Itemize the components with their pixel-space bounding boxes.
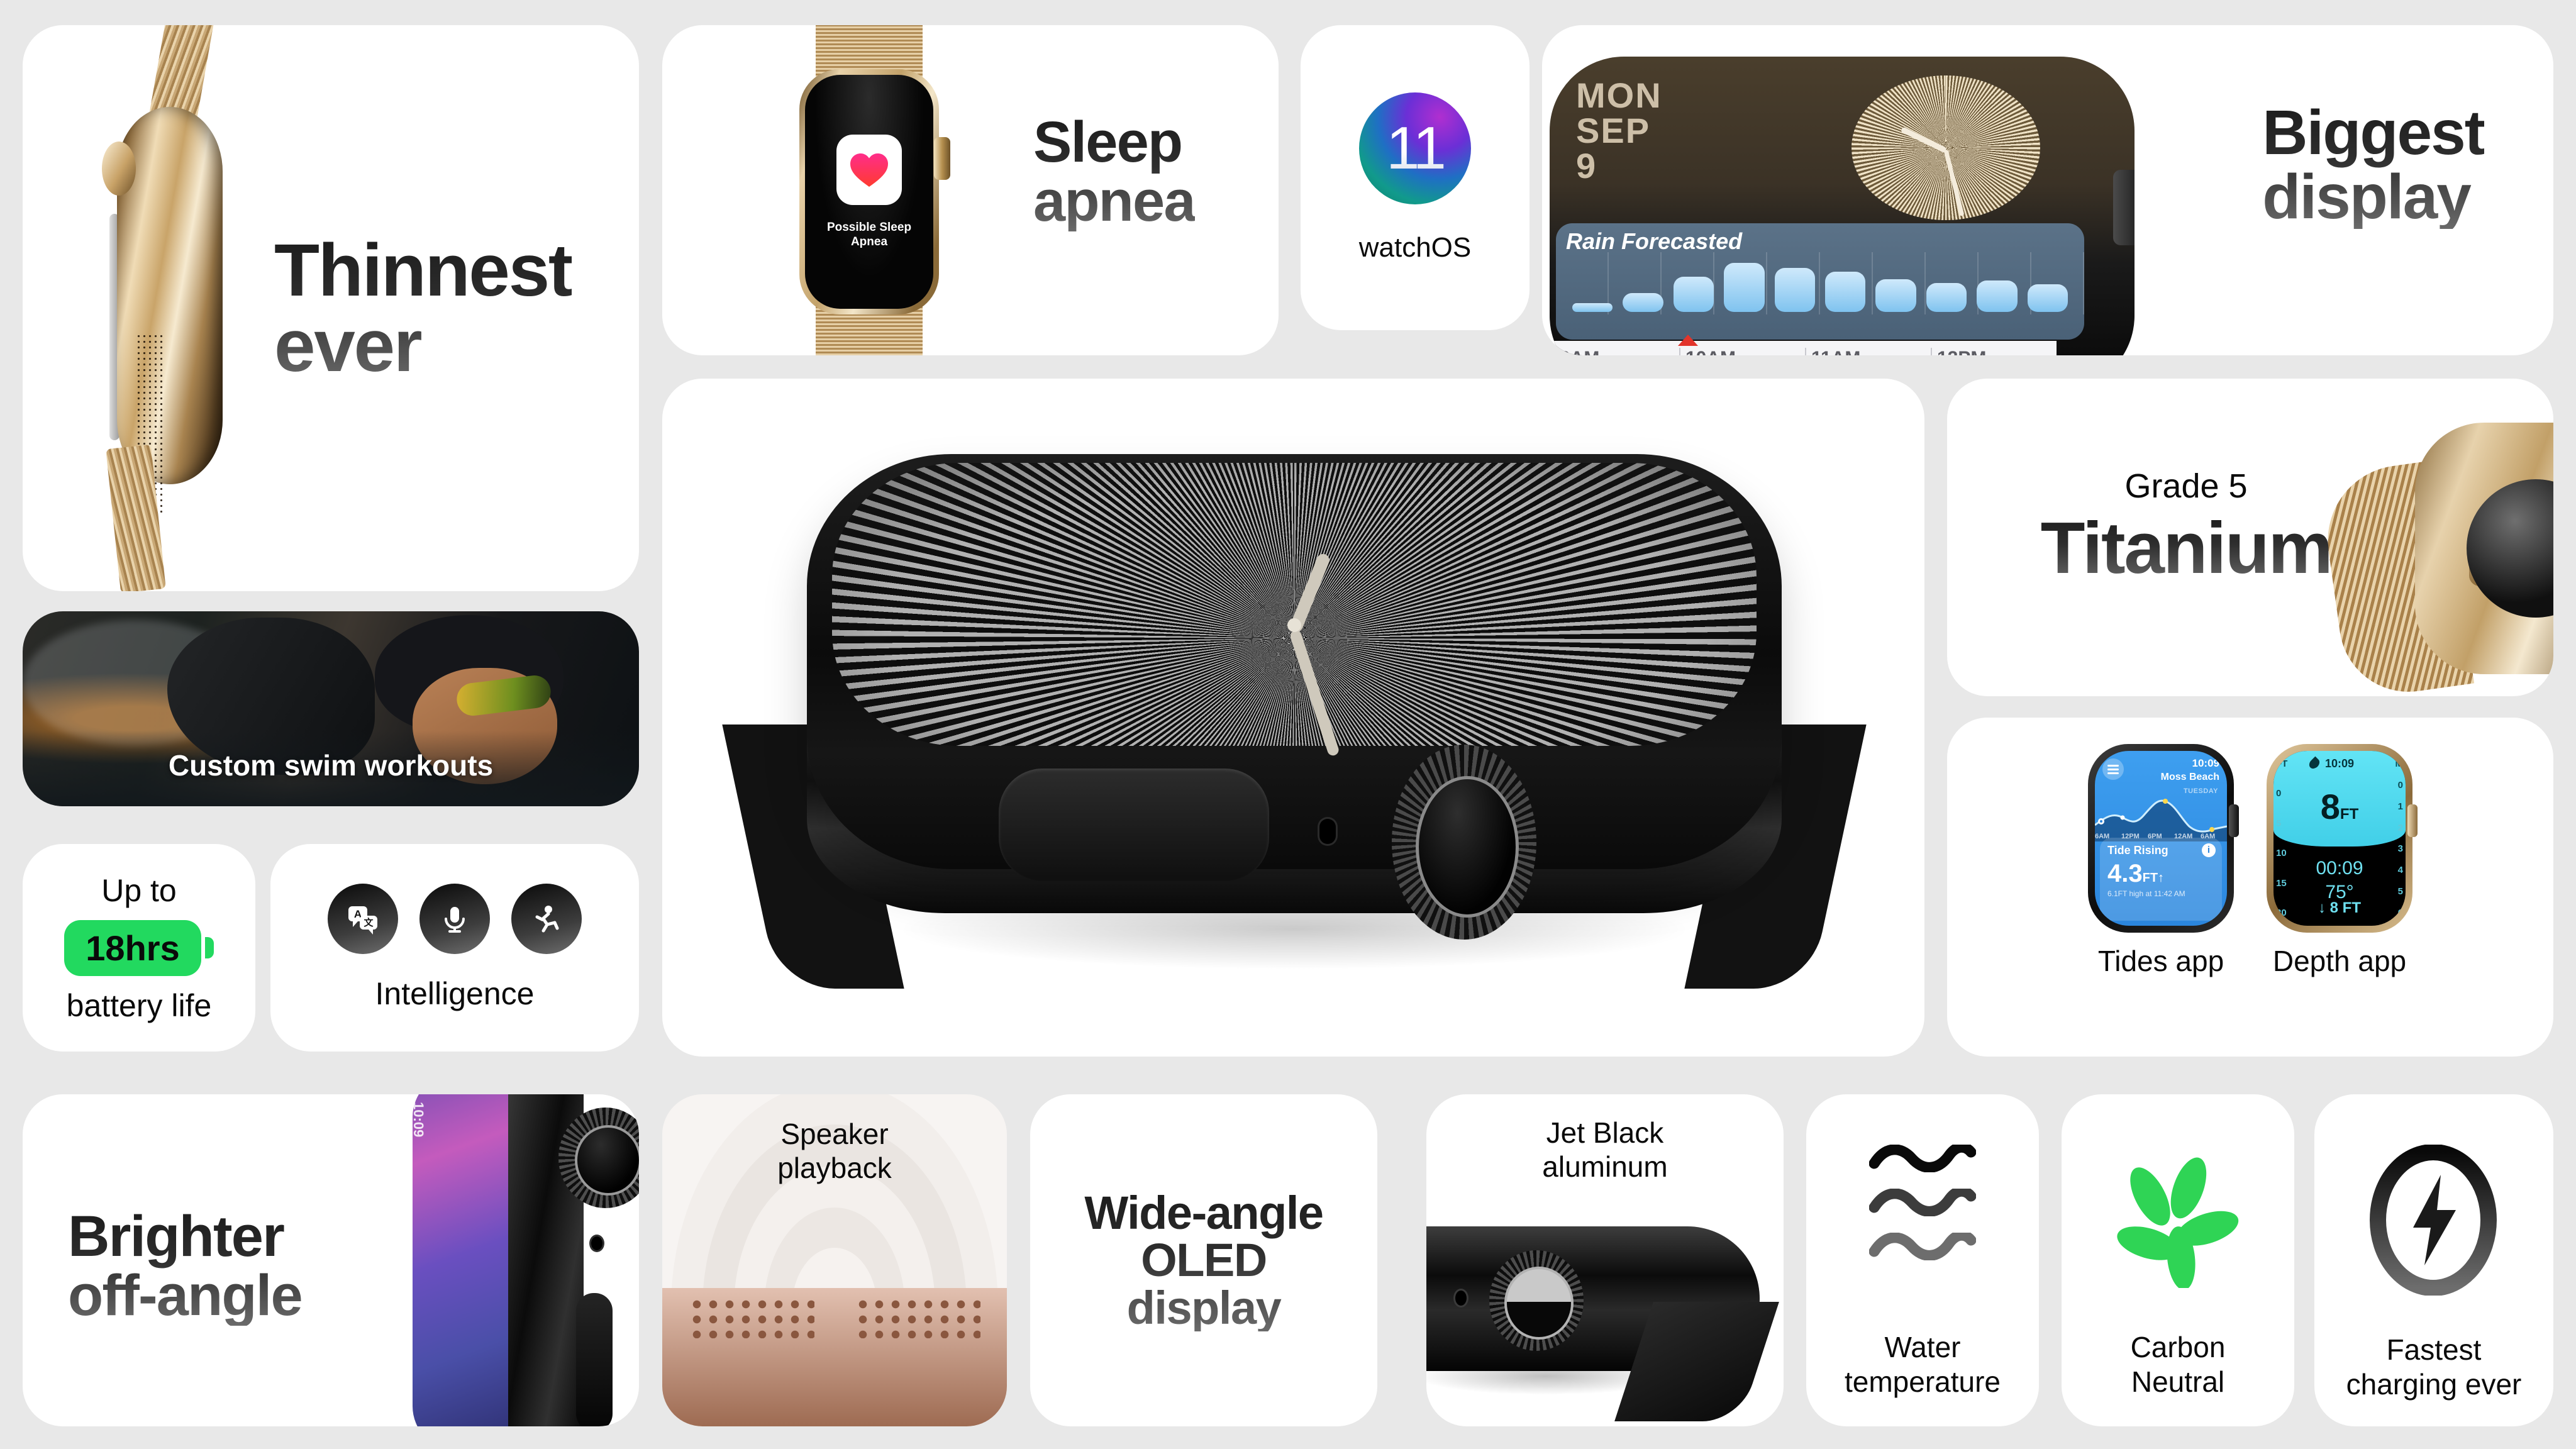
tide-curve-chart: 6AM12PM6PM12AM6AM xyxy=(2095,787,2227,841)
rain-minute-label: 40M xyxy=(1927,337,1963,340)
tides-app-column[interactable]: 10:09 Moss Beach TUESDAY xyxy=(2088,744,2234,978)
feature-grid: Thinnest ever Possible Sleep Apnea xyxy=(0,0,2576,1449)
microphone-port-icon xyxy=(1319,819,1336,844)
card-sleep-apnea[interactable]: Possible Sleep Apnea Sleep apnea xyxy=(662,25,1279,355)
digital-crown-icon xyxy=(2229,804,2239,837)
watchos-label: watchOS xyxy=(1359,232,1472,264)
rain-bar xyxy=(1775,268,1815,312)
sleep-apnea-screen-text: Possible Sleep Apnea xyxy=(827,220,911,249)
depth-scale-tick: 4 xyxy=(2398,865,2403,875)
rain-bar xyxy=(2028,284,2068,312)
titanium-superline: Grade 5 xyxy=(2016,467,2356,506)
brighter-headline: Brighter off-angle xyxy=(68,1207,302,1326)
apple-watch-hero-image xyxy=(750,454,1838,995)
tide-value: 4.3 xyxy=(2107,860,2143,887)
watchos-version: 11 xyxy=(1386,114,1444,183)
rain-forecast-complication: Rain Forecasted NOW20M40M xyxy=(1556,223,2084,340)
depth-scale-tick: 2 xyxy=(2398,823,2403,833)
hour-timeline: 9AM10AM11AM12PM xyxy=(1553,341,2057,355)
swim-caption: Custom swim workouts xyxy=(23,748,639,782)
card-watchos[interactable]: 11 watchOS xyxy=(1301,25,1529,330)
depth-scale-tick: 10 xyxy=(2276,848,2287,858)
tide-arrow-icon: ↑ xyxy=(2158,871,2164,885)
card-fastest-charging[interactable]: Fastest charging ever xyxy=(2314,1094,2553,1426)
card-thinnest-ever[interactable]: Thinnest ever xyxy=(23,25,639,591)
depth-watch-mockup: 10:09 8FT 00:09 75° ↓ 8 FT FT05101520 M0… xyxy=(2267,744,2412,933)
microphone-port-icon xyxy=(1455,1291,1467,1306)
hour-label: 12PM xyxy=(1931,348,2057,355)
digital-crown-icon xyxy=(1392,745,1536,940)
tides-place: Moss Beach xyxy=(2161,772,2219,783)
rain-bar xyxy=(1825,272,1865,312)
card-carbon-neutral[interactable]: Carbon Neutral xyxy=(2062,1094,2294,1426)
microphone-icon xyxy=(419,884,490,954)
card-hero-watch[interactable] xyxy=(662,379,1924,1057)
rain-bar xyxy=(1724,263,1764,312)
card-jet-black-aluminum[interactable]: Jet Black aluminum xyxy=(1426,1094,1784,1426)
tides-app-label: Tides app xyxy=(2098,944,2224,978)
tides-time: 10:09 xyxy=(2192,757,2219,770)
info-icon[interactable]: i xyxy=(2202,843,2216,857)
charging-bolt-icon xyxy=(2314,1145,2553,1296)
depth-scale-tick: 20 xyxy=(2276,908,2287,918)
digital-crown-icon xyxy=(2407,804,2418,837)
biggest-display-headline: Biggest display xyxy=(2262,101,2484,229)
tide-unit: FT xyxy=(2143,871,2158,885)
depth-scale-right: M0123456 xyxy=(2375,758,2403,918)
hour-label: 9AM xyxy=(1553,348,1679,355)
milanese-watch-image: Possible Sleep Apnea xyxy=(750,25,989,355)
card-speaker-playback[interactable]: Speaker playback xyxy=(662,1094,1007,1426)
battery-indicator-icon: 18hrs xyxy=(64,920,213,976)
fall-detection-icon xyxy=(511,884,582,954)
card-brighter-off-angle[interactable]: 10:09 Brighter off-angle xyxy=(23,1094,639,1426)
depth-app-column[interactable]: 10:09 8FT 00:09 75° ↓ 8 FT FT05101520 M0… xyxy=(2267,744,2412,978)
side-button-icon xyxy=(576,1293,613,1426)
speaker-title: Speaker playback xyxy=(662,1117,1007,1185)
card-water-temperature[interactable]: Water temperature xyxy=(1806,1094,2039,1426)
card-biggest-display[interactable]: MON SEP 9 Rain Forecasted NOW20M40M 9AM1… xyxy=(1542,25,2553,355)
oled-headline: Wide-angle OLED display xyxy=(1084,1189,1323,1331)
water-temperature-label: Water temperature xyxy=(1806,1330,2039,1399)
depth-scale-title: M xyxy=(2396,758,2404,769)
depth-scale-tick: 5 xyxy=(2398,886,2403,897)
thinnest-headline: Thinnest ever xyxy=(274,233,572,384)
speaker-grille-image xyxy=(662,1288,1007,1426)
watch-face-date: MON SEP 9 xyxy=(1576,78,1662,184)
hour-label: 10AM xyxy=(1679,348,1805,355)
rain-bar xyxy=(1875,279,1916,312)
watch-face-dial xyxy=(1851,75,2040,220)
microphone-port-icon xyxy=(591,1236,602,1250)
svg-text:文: 文 xyxy=(364,917,374,928)
card-battery-life[interactable]: Up to 18hrs battery life xyxy=(23,844,255,1052)
rain-bars xyxy=(1556,249,2084,312)
rain-bar xyxy=(1926,283,1967,312)
tide-status-panel: Tide Rising i 4.3FT↑ 6.1FT high at 11:42… xyxy=(2100,838,2222,921)
digital-crown-icon xyxy=(1489,1250,1584,1351)
depth-scale-tick: 5 xyxy=(2276,818,2281,829)
tides-watch-mockup: 10:09 Moss Beach TUESDAY xyxy=(2088,744,2234,933)
carbon-neutral-leaf-icon xyxy=(2062,1150,2294,1288)
water-waves-icon xyxy=(1806,1145,2039,1260)
depth-scale-tick: 0 xyxy=(2398,780,2403,791)
translate-icon: A 文 xyxy=(328,884,398,954)
depth-scale-tick: 3 xyxy=(2398,843,2403,854)
gold-watch-side-image xyxy=(60,25,268,585)
now-marker-icon xyxy=(1678,335,1698,346)
depth-value: 8 xyxy=(2321,787,2340,826)
card-tides-depth-apps[interactable]: 10:09 Moss Beach TUESDAY xyxy=(1947,718,2553,1057)
side-button-icon xyxy=(999,769,1269,882)
rain-bar xyxy=(1674,277,1714,312)
rain-minute-label: 20M xyxy=(1745,337,1781,340)
tide-note: 6.1FT high at 11:42 AM xyxy=(2107,889,2214,898)
depth-scale-title: FT xyxy=(2276,758,2287,769)
battery-prefix: Up to xyxy=(101,872,177,909)
sleep-apnea-headline: Sleep apnea xyxy=(1033,113,1195,231)
rain-bar xyxy=(1623,293,1663,312)
card-intelligence[interactable]: A 文 xyxy=(270,844,639,1052)
depth-scale-left: FT05101520 xyxy=(2276,758,2304,918)
tide-status: Tide Rising xyxy=(2107,844,2214,857)
watchos-orb-icon: 11 xyxy=(1359,92,1471,204)
depth-unit: FT xyxy=(2340,806,2358,823)
hour-label: 11AM xyxy=(1805,348,1931,355)
intelligence-label: Intelligence xyxy=(375,975,535,1012)
digital-crown-icon xyxy=(2113,170,2135,245)
rain-minute-label: NOW xyxy=(1562,337,1608,340)
depth-scale-tick: 6 xyxy=(2398,908,2403,918)
battery-value: 18hrs xyxy=(86,928,179,968)
biggest-display-watch-image: MON SEP 9 Rain Forecasted NOW20M40M 9AM1… xyxy=(1550,57,2135,355)
depth-scale-tick: 0 xyxy=(2276,788,2281,799)
card-swim-workouts[interactable]: Custom swim workouts xyxy=(23,611,639,806)
battery-suffix: battery life xyxy=(67,987,212,1024)
card-titanium[interactable]: Grade 5 Titanium xyxy=(1947,379,2553,696)
depth-scale-tick: 15 xyxy=(2276,878,2287,889)
rain-bar xyxy=(1977,280,2017,312)
titanium-headline: Titanium xyxy=(1979,511,2394,585)
depth-scale-tick: 1 xyxy=(2398,801,2403,812)
depth-app-label: Depth app xyxy=(2273,944,2406,978)
rain-bar xyxy=(1572,303,1613,312)
heart-icon xyxy=(836,135,902,205)
list-icon xyxy=(2102,758,2124,780)
off-angle-watch-image: 10:09 xyxy=(402,1094,639,1426)
jet-black-title: Jet Black aluminum xyxy=(1426,1116,1784,1184)
fastest-charging-label: Fastest charging ever xyxy=(2314,1333,2553,1401)
card-oled-display[interactable]: Wide-angle OLED display xyxy=(1030,1094,1377,1426)
carbon-neutral-label: Carbon Neutral xyxy=(2062,1330,2294,1399)
digital-crown-icon xyxy=(934,137,950,180)
